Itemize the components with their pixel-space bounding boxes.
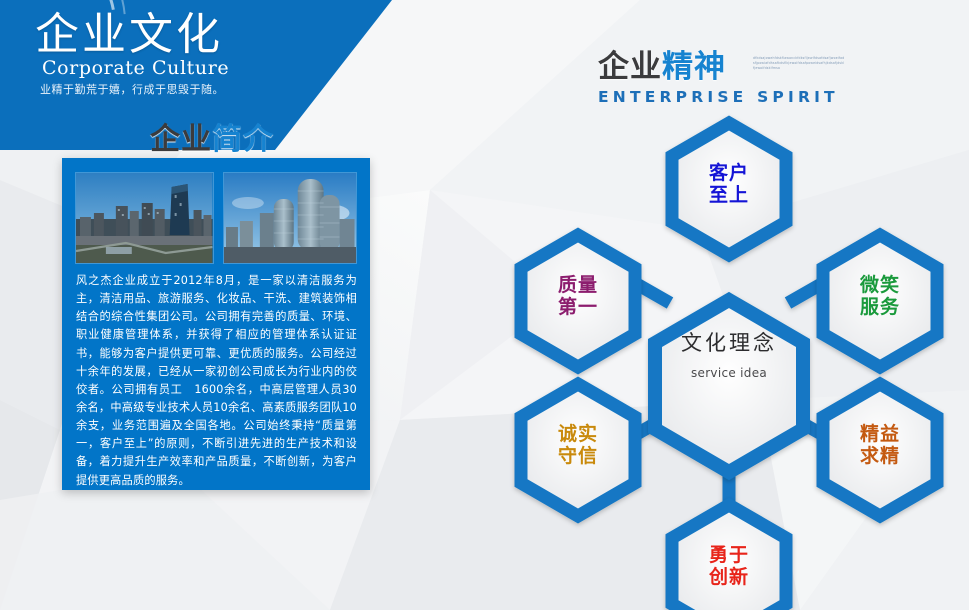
intro-section-title: 企业简介 <box>150 114 274 158</box>
company-intro-card: 风之杰企业成立于2012年8月，是一家以清洁服务为主，清洁用品、旅游服务、化妆品… <box>62 158 370 490</box>
spirit-title-en: ENTERPRISE SPIRIT <box>598 88 928 106</box>
hexagon-lower-left-shape <box>521 384 635 516</box>
hexagon-top-shape <box>672 123 786 255</box>
hexagon-upper-left-shape <box>521 235 635 367</box>
hexagon-center-shape <box>655 300 803 472</box>
hexagon-graphic <box>490 105 969 610</box>
intro-photo-row <box>75 172 357 264</box>
cityscape-skyline-photo <box>75 172 214 264</box>
banner-title-cn: 企业文化 <box>35 12 223 58</box>
hexagon-upper-right-shape <box>823 235 937 367</box>
spirit-title-prefix: 企业 <box>598 49 662 85</box>
intro-title-prefix: 企业 <box>150 122 212 157</box>
intro-title-suffix: 简介 <box>212 122 274 157</box>
spirit-decorative-microtext: dfkdsajowehfdskflawonckfdksfljewlfdsafds… <box>753 56 845 70</box>
skyscraper-towers-photo <box>223 172 358 264</box>
spirit-title-suffix: 精神 <box>662 49 726 85</box>
hexagon-bottom-shape <box>672 505 786 610</box>
company-intro-text: 风之杰企业成立于2012年8月，是一家以清洁服务为主，清洁用品、旅游服务、化妆品… <box>76 272 357 490</box>
banner-subtitle: 业精于勤荒于嬉，行成于思毁于随。 <box>40 81 224 97</box>
culture-hexagon-diagram: 文化理念 service idea 客户 至上 质量 第一 微笑 服务 诚实 守… <box>490 105 969 610</box>
hexagon-lower-right-shape <box>823 384 937 516</box>
banner-title-en: Corporate Culture <box>42 57 229 79</box>
